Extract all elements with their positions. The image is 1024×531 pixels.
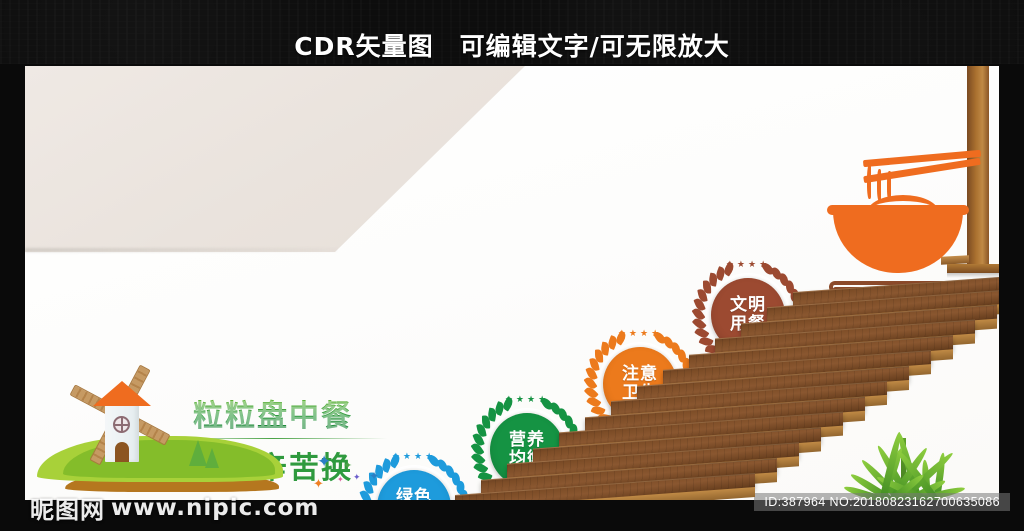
wall-artwork-canvas: ★★★★绿色新鲜★★★★营养均衡★★★★注意卫生★★★★文明用餐 粒粒盘中餐 皆… <box>25 66 999 500</box>
watermark-url: www.nipic.com <box>111 495 319 521</box>
bird-icon: ✦ <box>353 474 361 483</box>
screenshot-stage: CDR矢量图 可编辑文字/可无限放大 ★★★★绿色新鲜★★★★营养 <box>0 0 1024 531</box>
watermark-id: ID:387964 NO:20180823162700635086 <box>754 493 1010 511</box>
watermark-brand: 昵图网 <box>30 490 105 525</box>
watermark-logo: 昵图网 www.nipic.com <box>30 490 319 525</box>
ceiling-soffit <box>25 66 525 252</box>
bowl-body <box>833 209 963 273</box>
bird-icon: ✦ <box>369 470 379 482</box>
badge-stars: ★★★★ <box>689 259 807 270</box>
badge-stars: ★★★★ <box>468 394 586 405</box>
badge-label-line-1: 绿色 <box>396 488 432 500</box>
badge-label-line-1: 文明 <box>730 296 766 315</box>
bird-icon: ✦ <box>317 454 331 471</box>
windmill-door <box>115 442 129 462</box>
bird-icon: ✦ <box>343 460 352 471</box>
noodle-bowl-icon <box>815 141 990 291</box>
noodle-strand <box>877 169 882 201</box>
bird-icon: ✦ <box>337 476 344 484</box>
noodle-strand <box>867 165 872 199</box>
birds-icon: ✦✦✦✦✦✦ <box>311 454 389 500</box>
badge-label-line-1: 注意 <box>622 365 658 384</box>
windmill-roof <box>93 381 151 406</box>
header-banner: CDR矢量图 可编辑文字/可无限放大 <box>0 0 1024 64</box>
tree-icon <box>205 448 219 468</box>
badge-stars: ★★★★ <box>581 328 699 339</box>
soffit-edge-shadow <box>25 248 337 252</box>
windmill-window <box>113 416 130 433</box>
windmill-icon <box>61 354 181 474</box>
banner-title: CDR矢量图 可编辑文字/可无限放大 <box>0 27 1024 63</box>
